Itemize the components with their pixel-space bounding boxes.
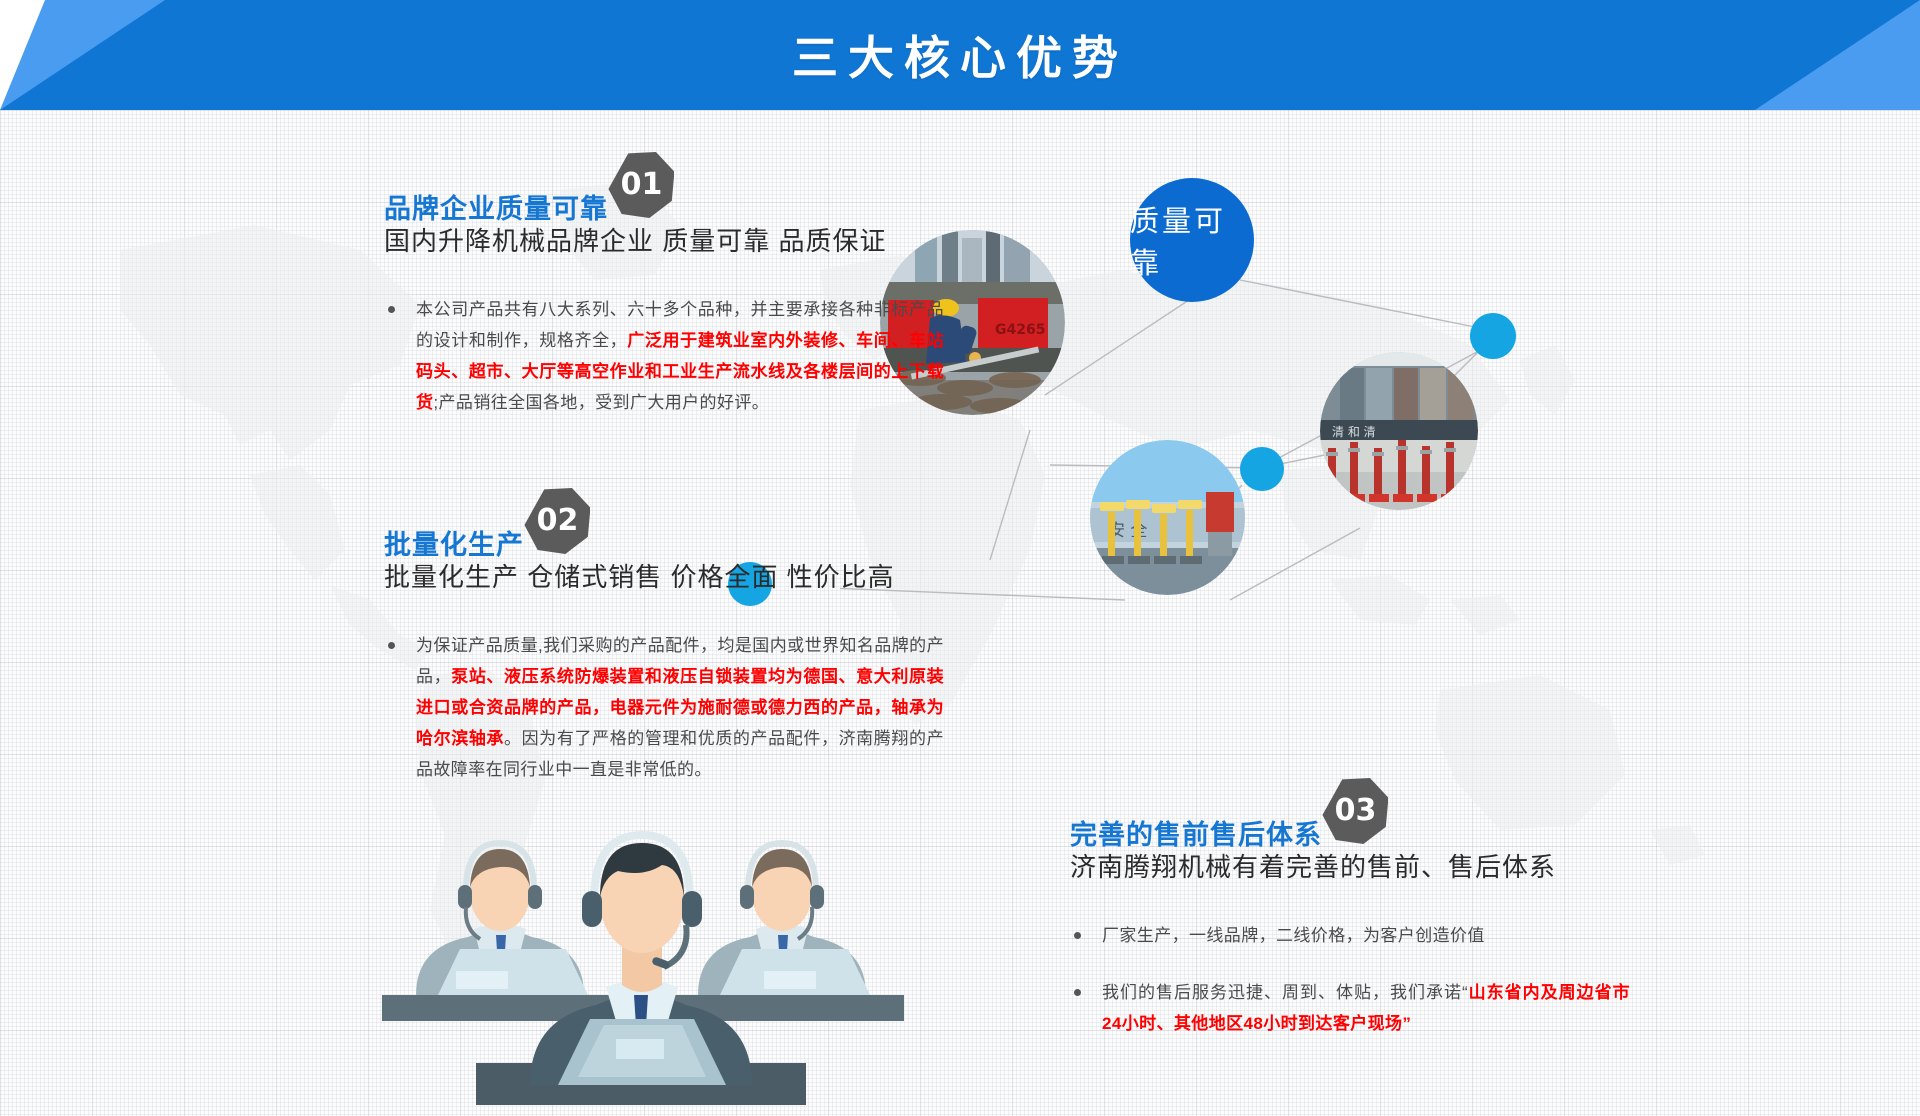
feature-03-title: 完善的售前售后体系 [1070,818,1322,852]
feature-03-heading: 完善的售前售后体系 03 [1070,778,1630,852]
feature-01-number: 01 [608,152,674,218]
feature-02-subtitle: 批量化生产 仓储式销售 价格全面 性价比高 [384,558,944,596]
segment-plain-1: 厂家生产，一线品牌，二线价格，为客户创造价值 [1102,926,1485,945]
feature-block-03: 完善的售前售后体系 03 济南腾翔机械有着完善的售前、售后体系 厂家生产，一线品… [1070,778,1630,1065]
feature-02-number-badge: 02 [524,488,590,554]
feature-01-subtitle: 国内升降机械品牌企业 质量可靠 品质保证 [384,222,944,260]
feature-03-bullets: 厂家生产，一线品牌，二线价格，为客户创造价值 我们的售后服务迅捷、周到、体贴，我… [1070,920,1630,1039]
feature-block-01: 品牌企业质量可靠 01 国内升降机械品牌企业 质量可靠 品质保证 本公司产品共有… [384,152,944,444]
feature-01-bullets: 本公司产品共有八大系列、六十多个品种，并主要承接各种非标产品的设计和制作，规格齐… [384,294,944,418]
list-item: 为保证产品质量,我们采购的产品配件，均是国内或世界知名品牌的产品，泵站、液压系统… [384,630,944,785]
feature-01-number-badge: 01 [608,152,674,218]
feature-02-bullets: 为保证产品质量,我们采购的产品配件，均是国内或世界知名品牌的产品，泵站、液压系统… [384,630,944,785]
feature-01-heading: 品牌企业质量可靠 01 [384,152,944,226]
feature-03-subtitle: 济南腾翔机械有着完善的售前、售后体系 [1070,848,1630,886]
segment-plain-2: ” [1402,1014,1411,1033]
page-title: 三大核心优势 [0,0,1920,110]
list-item: 我们的售后服务迅捷、周到、体贴，我们承诺“山东省内及周边省市24小时、其他地区4… [1070,977,1630,1039]
page-header-banner: 三大核心优势 [0,0,1920,110]
feature-02-number: 02 [524,488,590,554]
feature-01-title: 品牌企业质量可靠 [384,192,608,226]
feature-03-number: 03 [1322,778,1388,844]
list-item: 厂家生产，一线品牌，二线价格，为客户创造价值 [1070,920,1630,951]
segment-plain-2: ;产品销往全国各地，受到广大用户的好评。 [433,393,769,412]
segment-plain-1: 我们的售后服务迅捷、周到、体贴，我们承诺“ [1102,983,1468,1002]
feature-block-02: 批量化生产 02 批量化生产 仓储式销售 价格全面 性价比高 为保证产品质量,我… [384,488,944,811]
list-item: 本公司产品共有八大系列、六十多个品种，并主要承接各种非标产品的设计和制作，规格齐… [384,294,944,418]
feature-02-heading: 批量化生产 02 [384,488,944,562]
feature-02-title: 批量化生产 [384,528,524,562]
feature-03-number-badge: 03 [1322,778,1388,844]
